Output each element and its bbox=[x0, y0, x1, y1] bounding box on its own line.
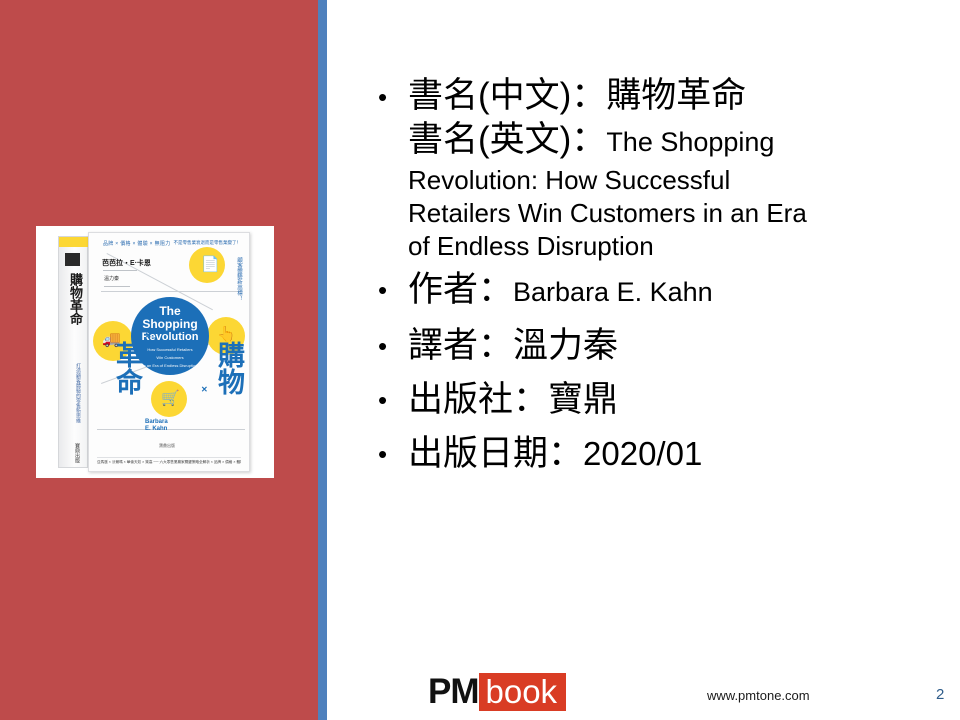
bullet-title: • 書名(中文)：購物革命 書名(英文)：The Shopping Revolu… bbox=[378, 74, 943, 263]
cover-author-en-line1: Barbara bbox=[145, 419, 168, 426]
translator-label: 譯者： bbox=[408, 326, 513, 365]
bullet-author-body: 作者：Barbara E. Kahn bbox=[408, 263, 943, 319]
publish-date-value: 2020/01 bbox=[583, 435, 702, 472]
cover-top-banner-left: 品牌 × 價格 × 體驗 × 無阻力 bbox=[103, 240, 171, 247]
spine-title: 購物革命 bbox=[66, 273, 83, 325]
cover-circle-sub1: How Successful Retailers bbox=[147, 347, 192, 352]
bullet-translator: • 譯者：溫力秦 bbox=[378, 319, 943, 373]
cover-translator-cn: 溫力秦 bbox=[104, 275, 119, 282]
page-number: 2 bbox=[936, 686, 944, 703]
bullet-marker-icon: • bbox=[378, 427, 408, 481]
left-accent-stripe bbox=[318, 0, 327, 720]
book-illustration: 購物革命 打造顧客體驗的零售新思維 寶鼎出版 品牌 × 價格 × 體驗 × 無阻… bbox=[58, 232, 250, 472]
bullet-publish-date: • 出版日期：2020/01 bbox=[378, 427, 943, 481]
book-front-cover: 品牌 × 價格 × 體驗 × 無阻力 不是零售業衰退而是零售業變了！ 顧客體驗新… bbox=[88, 232, 250, 472]
cover-bottom-banner: 亞馬遜 × 沃爾瑪 × 華倫天奴 × 樂高 ── 六大零售業贏家關鍵策略全解析 … bbox=[97, 457, 241, 465]
author-line: 作者：Barbara E. Kahn bbox=[408, 263, 943, 319]
book-title-en-label: 書名(英文)： bbox=[408, 120, 606, 159]
docs-icon: 📄 bbox=[201, 257, 220, 272]
publish-date-label: 出版日期： bbox=[408, 434, 583, 473]
publisher-label: 出版社： bbox=[408, 380, 548, 419]
bullet-publisher: • 出版社：寶鼎 bbox=[378, 373, 943, 427]
book-spine: 購物革命 打造顧客體驗的零售新思維 寶鼎出版 bbox=[58, 236, 88, 468]
bullet-translator-body: 譯者：溫力秦 bbox=[408, 319, 943, 373]
cover-circle-sub2: Win Customers bbox=[156, 355, 183, 360]
bullet-publish-date-body: 出版日期：2020/01 bbox=[408, 427, 943, 481]
cover-translator-rule bbox=[104, 286, 130, 287]
footer-url: www.pmtone.com bbox=[707, 688, 810, 703]
author-value: Barbara E. Kahn bbox=[513, 277, 713, 307]
bullet-title-body: 書名(中文)：購物革命 書名(英文)：The Shopping Revoluti… bbox=[408, 74, 943, 263]
book-title-en-part1: The Shopping bbox=[606, 127, 774, 157]
cover-author-cn: 芭芭拉‧E‧卡恩 bbox=[102, 258, 151, 268]
publisher-value: 寶鼎 bbox=[548, 380, 618, 419]
cover-circle-sub3: in an Era of Endless Disruption bbox=[143, 363, 198, 368]
publisher-line: 出版社：寶鼎 bbox=[408, 373, 943, 427]
bullet-marker-icon: • bbox=[378, 319, 408, 373]
bullet-marker-icon: • bbox=[378, 373, 408, 427]
translator-value: 溫力秦 bbox=[513, 326, 618, 365]
cover-big-text-right: 購物 bbox=[215, 341, 243, 395]
logo-pm-text: PM bbox=[428, 673, 479, 711]
bullet-author: • 作者：Barbara E. Kahn bbox=[378, 263, 943, 319]
hand-tap-icon: 👆 bbox=[217, 327, 236, 342]
cover-circle-line1: The bbox=[159, 305, 180, 318]
book-title-en-part3: Retailers Win Customers in an Era bbox=[408, 197, 943, 230]
cover-author-en: Barbara E. Kahn bbox=[145, 419, 168, 433]
book-cover-image: 購物革命 打造顧客體驗的零售新思維 寶鼎出版 品牌 × 價格 × 體驗 × 無阻… bbox=[36, 226, 274, 478]
cover-title-circle: The Shopping Revolution How Successful R… bbox=[131, 297, 209, 375]
author-label: 作者： bbox=[408, 270, 513, 309]
cover-side-slogan: 顧客體驗新高標！ bbox=[235, 257, 243, 301]
book-title-en-line: 書名(英文)：The Shopping bbox=[408, 118, 943, 164]
spine-yellow-band bbox=[59, 237, 89, 247]
cover-line-1 bbox=[101, 291, 241, 292]
bullet-publisher-body: 出版社：寶鼎 bbox=[408, 373, 943, 427]
shopping-cart-icon: 🛒 bbox=[161, 391, 180, 406]
cover-x-mark-1: ✕ bbox=[145, 331, 152, 340]
cover-top-banner-right: 不是零售業衰退而是零售業變了！ bbox=[174, 240, 242, 246]
slide-body: • 書名(中文)：購物革命 書名(英文)：The Shopping Revolu… bbox=[378, 74, 943, 481]
spine-subtitle: 打造顧客體驗的零售新思維 bbox=[68, 363, 81, 423]
cover-circle-line2: Shopping bbox=[142, 318, 197, 331]
book-title-en-part4: of Endless Disruption bbox=[408, 230, 943, 263]
cover-big-text-left: 革命 bbox=[113, 341, 141, 395]
spine-logo-mark bbox=[65, 253, 80, 266]
book-title-en-part2: Revolution: How Successful bbox=[408, 164, 943, 197]
cover-publisher-mark: 寶鼎出版 bbox=[159, 443, 175, 449]
translator-line: 譯者：溫力秦 bbox=[408, 319, 943, 373]
publish-date-line: 出版日期：2020/01 bbox=[408, 427, 943, 481]
bullet-marker-icon: • bbox=[378, 263, 408, 317]
cover-author-en-line2: E. Kahn bbox=[145, 426, 168, 433]
logo-book-badge: book bbox=[479, 673, 567, 711]
cover-author-rule bbox=[103, 270, 137, 271]
pmbook-logo: PM book bbox=[428, 673, 566, 711]
bullet-marker-icon: • bbox=[378, 74, 408, 120]
cover-x-mark-2: ✕ bbox=[201, 385, 208, 394]
cover-line-4 bbox=[97, 429, 245, 430]
book-title-cn: 書名(中文)：購物革命 bbox=[408, 74, 943, 118]
spine-publisher: 寶鼎出版 bbox=[67, 443, 81, 463]
